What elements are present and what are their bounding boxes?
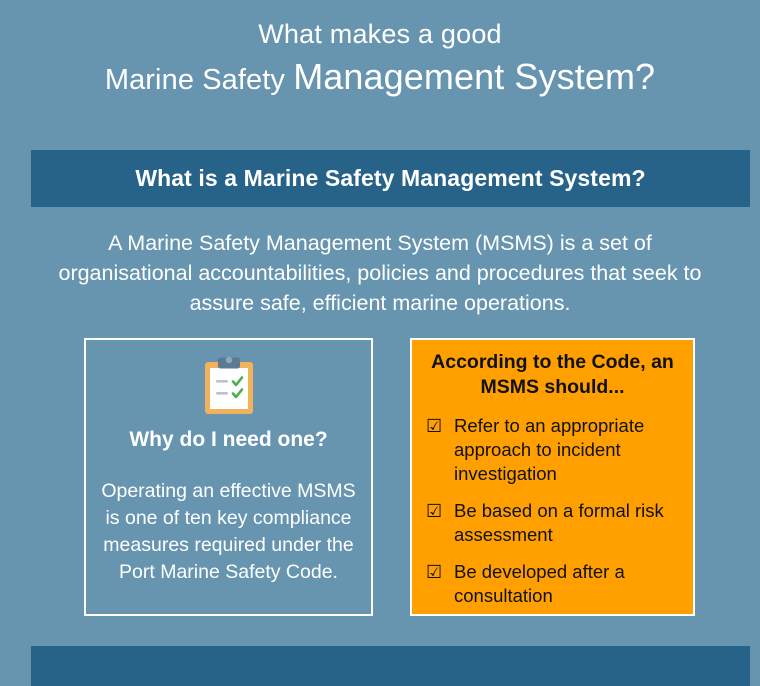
list-item-label: Refer to an appropriate approach to inci… xyxy=(454,414,679,486)
intro-paragraph: A Marine Safety Management System (MSMS)… xyxy=(40,228,720,318)
page-title-line-1: What makes a good xyxy=(0,14,760,54)
list-item: ☑ Be based on a formal risk assessment xyxy=(426,499,679,547)
code-requirements-list: ☑ Refer to an appropriate approach to in… xyxy=(426,414,679,608)
section-banner-title: What is a Marine Safety Management Syste… xyxy=(135,165,645,192)
page-title-line-2-light: Marine Safety xyxy=(105,64,293,96)
checkbox-checked-icon: ☑ xyxy=(426,560,446,584)
list-item-label: Be based on a formal risk assessment xyxy=(454,499,679,547)
next-section-banner xyxy=(31,646,750,686)
list-item: ☑ Refer to an appropriate approach to in… xyxy=(426,414,679,486)
checkbox-checked-icon: ☑ xyxy=(426,414,446,438)
page-title-line-2-strong: Management System? xyxy=(293,56,655,97)
why-do-i-need-one-card: Why do I need one? Operating an effectiv… xyxy=(84,338,373,616)
clipboard-checklist-icon xyxy=(203,356,255,416)
card-right-heading: According to the Code, an MSMS should... xyxy=(426,350,679,400)
card-left-heading: Why do I need one? xyxy=(129,428,327,452)
page-title: What makes a good Marine Safety Manageme… xyxy=(0,14,760,108)
according-to-the-code-card: According to the Code, an MSMS should...… xyxy=(410,338,695,616)
page-title-line-2: Marine Safety Management System? xyxy=(0,54,760,108)
section-banner: What is a Marine Safety Management Syste… xyxy=(31,150,750,207)
list-item-label: Be developed after a consultation xyxy=(454,560,679,608)
list-item: ☑ Be developed after a consultation xyxy=(426,560,679,608)
checkbox-checked-icon: ☑ xyxy=(426,499,446,523)
card-left-body: Operating an effective MSMS is one of te… xyxy=(86,478,371,586)
